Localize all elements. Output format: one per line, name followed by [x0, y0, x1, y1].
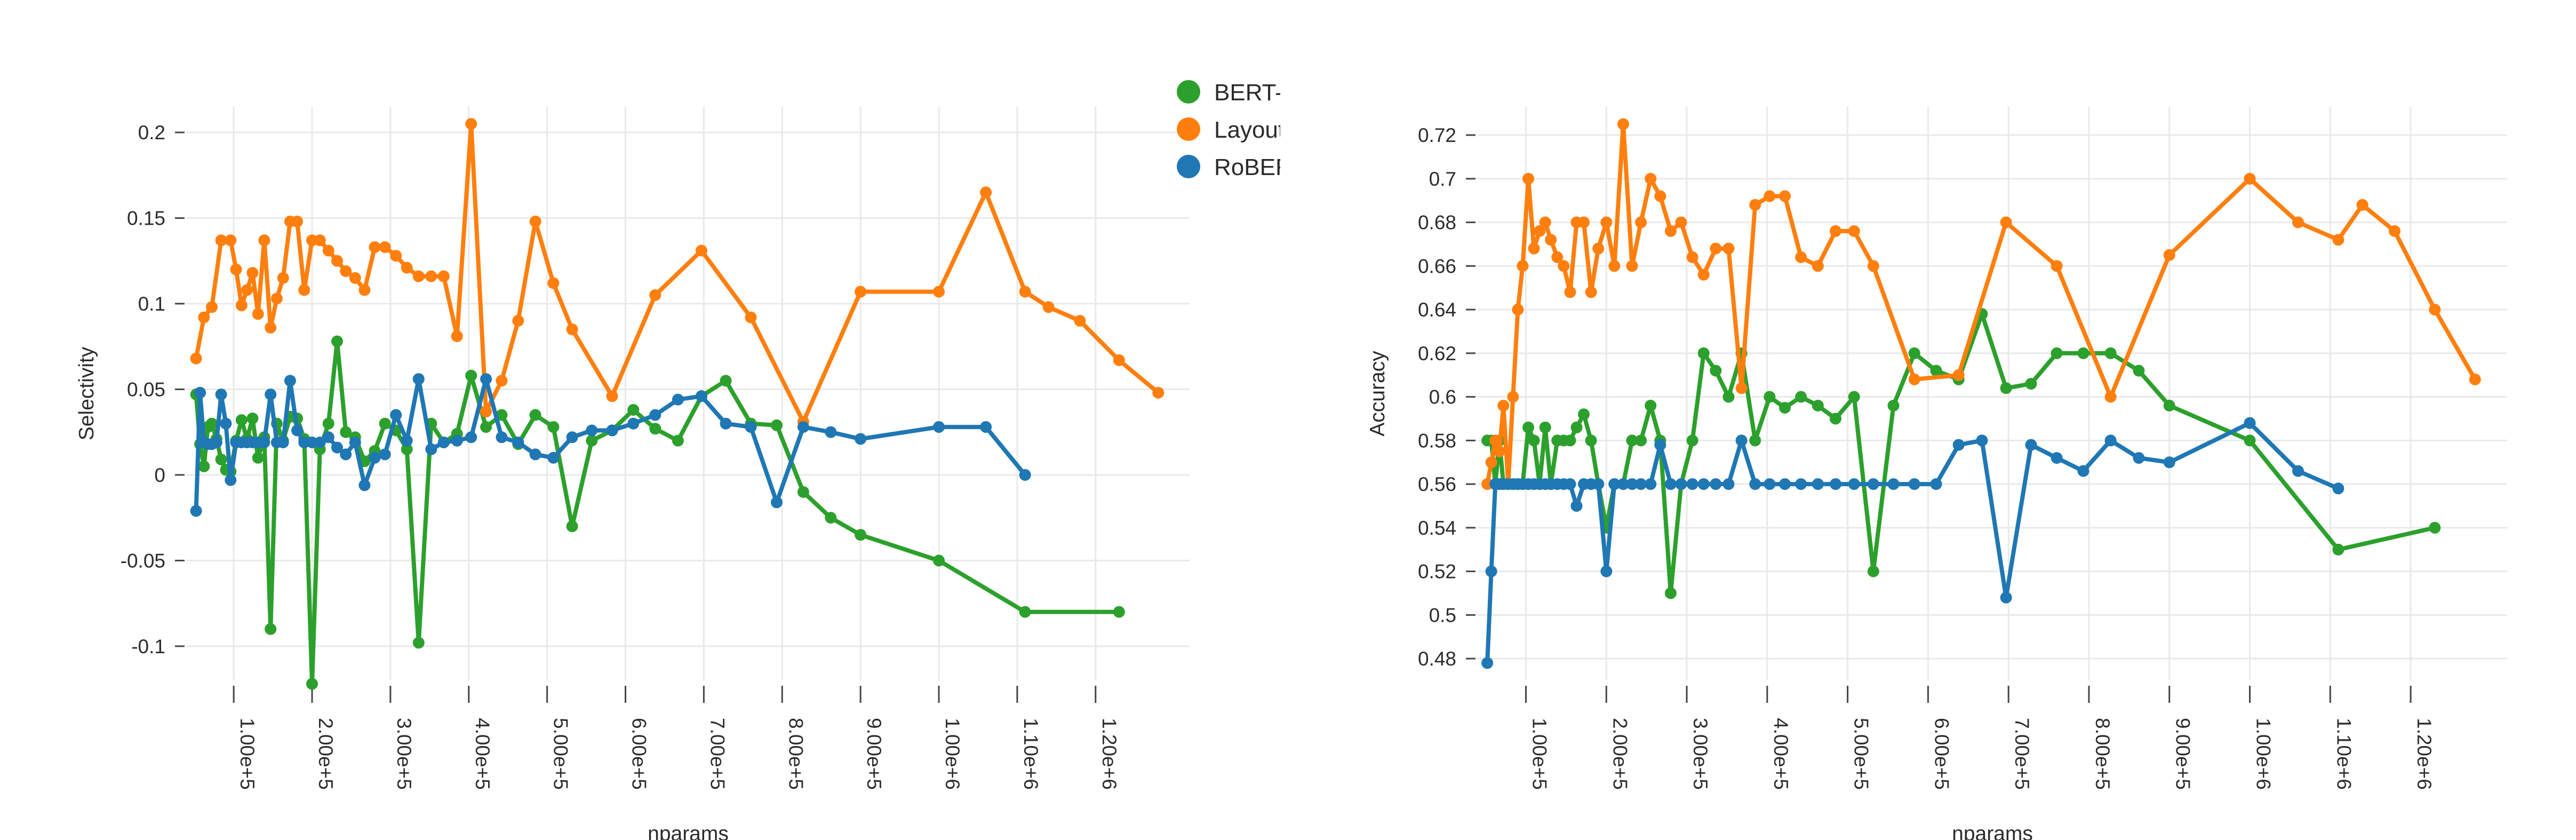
data-point-marker[interactable] — [696, 245, 707, 257]
data-point-marker[interactable] — [246, 413, 258, 424]
data-point-marker[interactable] — [649, 289, 661, 301]
data-point-marker[interactable] — [696, 390, 707, 402]
data-point-marker[interactable] — [933, 286, 945, 298]
data-point-marker[interactable] — [379, 241, 391, 253]
y-tick-label: 0.52 — [1418, 561, 1456, 583]
data-point-marker[interactable] — [465, 431, 477, 443]
data-point-marker[interactable] — [2332, 544, 2344, 556]
data-point-marker[interactable] — [1113, 606, 1125, 618]
data-point-marker[interactable] — [547, 278, 559, 289]
data-point-marker[interactable] — [1698, 347, 1710, 359]
y-tick-label: -0.1 — [131, 636, 165, 657]
y-tick-label: 0.62 — [1418, 343, 1456, 364]
data-point-marker[interactable] — [1489, 434, 1501, 446]
data-point-marker[interactable] — [379, 448, 391, 460]
data-point-marker[interactable] — [1687, 251, 1698, 263]
data-point-marker[interactable] — [1722, 478, 1734, 490]
data-point-marker[interactable] — [2105, 391, 2117, 403]
y-axis-ticks-group: 0.480.50.520.540.560.580.60.620.640.660.… — [1418, 124, 1476, 670]
data-point-marker[interactable] — [1749, 478, 1761, 490]
data-point-marker[interactable] — [252, 452, 264, 464]
accuracy-chart-svg[interactable]: 0.480.50.520.540.560.580.60.620.640.660.… — [1280, 0, 2576, 840]
data-point-marker[interactable] — [369, 452, 381, 464]
data-point-marker[interactable] — [1710, 365, 1721, 377]
data-point-marker[interactable] — [252, 308, 264, 320]
data-point-marker[interactable] — [1764, 191, 1775, 202]
data-point-marker[interactable] — [855, 433, 866, 445]
y-tick-label: -0.05 — [121, 550, 165, 572]
data-point-marker[interactable] — [1665, 478, 1677, 490]
data-point-marker[interactable] — [1494, 446, 1505, 457]
series-roberta[interactable] — [1481, 417, 2344, 669]
data-point-marker[interactable] — [379, 418, 391, 430]
x-axis-ticks-group: 1.00e+52.00e+53.00e+54.00e+55.00e+56.00e… — [1526, 686, 2435, 790]
series-polyline — [1487, 423, 2338, 663]
data-point-marker[interactable] — [2164, 249, 2175, 261]
data-point-marker[interactable] — [933, 421, 945, 433]
data-point-marker[interactable] — [2429, 522, 2441, 534]
data-point-marker[interactable] — [586, 435, 597, 447]
data-point-marker[interactable] — [1722, 391, 1734, 403]
data-point-marker[interactable] — [1074, 315, 1086, 327]
data-point-marker[interactable] — [480, 373, 492, 385]
data-point-marker[interactable] — [1486, 456, 1497, 468]
data-point-marker[interactable] — [1795, 251, 1807, 263]
data-point-marker[interactable] — [284, 375, 296, 386]
data-point-marker[interactable] — [314, 234, 326, 246]
data-point-marker[interactable] — [530, 409, 541, 421]
x-axis-ticks-group: 1.00e+52.00e+53.00e+54.00e+55.00e+56.00e… — [234, 686, 1120, 790]
data-point-marker[interactable] — [1600, 566, 1612, 577]
data-point-marker[interactable] — [567, 520, 578, 532]
data-point-marker[interactable] — [1976, 434, 1988, 446]
data-point-marker[interactable] — [1578, 408, 1590, 420]
data-point-marker[interactable] — [271, 292, 283, 304]
y-tick-label: 0.2 — [138, 122, 165, 144]
y-axis-title: Accuracy — [1366, 351, 1389, 437]
data-point-marker[interactable] — [1507, 391, 1519, 403]
data-point-marker[interactable] — [1545, 234, 1557, 245]
data-point-marker[interactable] — [1645, 478, 1656, 490]
data-point-marker[interactable] — [265, 623, 276, 635]
data-point-marker[interactable] — [586, 425, 597, 437]
data-point-marker[interactable] — [340, 448, 352, 460]
data-point-marker[interactable] — [607, 425, 618, 437]
legend-entry-label[interactable]: RoBERTa — [1214, 154, 1280, 180]
data-point-marker[interactable] — [1687, 478, 1698, 490]
data-point-marker[interactable] — [1019, 606, 1031, 618]
y-tick-label: 0.1 — [138, 293, 165, 315]
x-tick-label: 1.00e+6 — [2253, 718, 2275, 790]
y-tick-label: 0.64 — [1418, 299, 1456, 321]
data-point-marker[interactable] — [1830, 478, 1841, 490]
data-point-marker[interactable] — [1687, 434, 1698, 446]
y-tick-label: 0.58 — [1418, 430, 1456, 451]
data-point-marker[interactable] — [413, 637, 425, 648]
data-point-marker[interactable] — [720, 375, 732, 386]
data-point-marker[interactable] — [1522, 422, 1534, 433]
data-point-marker[interactable] — [2077, 347, 2089, 359]
y-tick-label: 0.05 — [127, 378, 165, 400]
data-point-marker[interactable] — [306, 678, 318, 690]
data-point-marker[interactable] — [1812, 400, 1824, 411]
data-point-marker[interactable] — [236, 414, 248, 426]
x-tick-label: 5.00e+5 — [550, 718, 572, 790]
legend-dot-layoutlm[interactable] — [1177, 117, 1200, 141]
x-tick-label: 4.00e+5 — [472, 718, 493, 790]
data-point-marker[interactable] — [291, 425, 303, 437]
data-point-marker[interactable] — [451, 435, 463, 447]
data-point-marker[interactable] — [745, 421, 757, 433]
data-point-marker[interactable] — [1868, 260, 1879, 272]
data-point-marker[interactable] — [211, 437, 222, 448]
data-point-marker[interactable] — [1710, 478, 1721, 490]
data-point-marker[interactable] — [1749, 434, 1761, 446]
data-point-marker[interactable] — [258, 437, 270, 448]
data-point-marker[interactable] — [1654, 439, 1666, 451]
data-point-marker[interactable] — [1812, 260, 1824, 272]
data-point-marker[interactable] — [980, 186, 992, 198]
data-point-marker[interactable] — [241, 284, 253, 296]
data-point-marker[interactable] — [1868, 566, 1879, 577]
data-point-marker[interactable] — [438, 271, 450, 282]
data-point-marker[interactable] — [547, 421, 559, 433]
data-point-marker[interactable] — [216, 389, 227, 400]
data-point-marker[interactable] — [1676, 217, 1687, 228]
data-point-marker[interactable] — [1645, 173, 1656, 185]
x-tick-label: 1.20e+6 — [2413, 718, 2435, 790]
x-tick-label: 6.00e+5 — [628, 718, 650, 790]
data-point-marker[interactable] — [206, 301, 218, 313]
data-point-marker[interactable] — [1512, 304, 1524, 315]
data-point-marker[interactable] — [413, 271, 425, 282]
data-point-marker[interactable] — [1585, 434, 1597, 446]
data-point-marker[interactable] — [190, 353, 202, 364]
series-polyline — [1487, 314, 2435, 593]
data-point-marker[interactable] — [1540, 217, 1551, 228]
data-point-marker[interactable] — [512, 315, 524, 327]
series-layoutlm[interactable] — [190, 118, 1165, 427]
x-axis-title: nparams — [1952, 822, 2033, 840]
data-point-marker[interactable] — [349, 272, 361, 284]
x-tick-label: 1.10e+6 — [2333, 718, 2355, 790]
data-point-marker[interactable] — [1953, 439, 1965, 451]
data-point-marker[interactable] — [797, 421, 809, 433]
data-point-marker[interactable] — [480, 406, 492, 417]
data-point-marker[interactable] — [1848, 391, 1860, 403]
data-point-marker[interactable] — [496, 375, 507, 386]
data-point-marker[interactable] — [771, 496, 783, 508]
data-point-marker[interactable] — [1909, 374, 1920, 385]
gridlines-group — [187, 107, 1190, 680]
data-point-marker[interactable] — [1736, 382, 1748, 394]
x-tick-label: 9.00e+5 — [863, 718, 885, 790]
y-tick-label: 0.5 — [1429, 604, 1456, 626]
legend-entry-label[interactable]: BERT-base — [1214, 80, 1280, 106]
data-point-marker[interactable] — [1848, 478, 1860, 490]
data-point-marker[interactable] — [390, 250, 402, 261]
data-point-marker[interactable] — [2292, 217, 2304, 228]
data-point-marker[interactable] — [1571, 500, 1583, 512]
data-point-marker[interactable] — [1736, 434, 1748, 446]
data-point-marker[interactable] — [236, 299, 248, 311]
data-point-marker[interactable] — [401, 435, 413, 447]
data-point-marker[interactable] — [771, 419, 783, 431]
selectivity-chart-svg[interactable]: -0.1-0.0500.050.10.150.21.00e+52.00e+53.… — [0, 0, 1280, 840]
data-point-marker[interactable] — [1578, 217, 1590, 228]
data-point-marker[interactable] — [720, 418, 732, 430]
data-point-marker[interactable] — [277, 272, 289, 284]
y-tick-label: 0.15 — [127, 208, 165, 229]
data-point-marker[interactable] — [230, 264, 242, 275]
data-point-marker[interactable] — [2164, 400, 2175, 411]
data-point-marker[interactable] — [2332, 234, 2344, 245]
data-point-marker[interactable] — [567, 431, 578, 443]
data-point-marker[interactable] — [1645, 400, 1656, 411]
data-point-marker[interactable] — [1540, 422, 1551, 433]
data-point-marker[interactable] — [797, 486, 809, 498]
data-point-marker[interactable] — [1635, 217, 1647, 228]
data-point-marker[interactable] — [1698, 269, 1710, 281]
data-point-marker[interactable] — [465, 118, 477, 130]
data-point-marker[interactable] — [2133, 452, 2144, 464]
data-point-marker[interactable] — [2244, 173, 2256, 185]
data-point-marker[interactable] — [413, 373, 425, 385]
data-point-marker[interactable] — [1522, 173, 1534, 185]
y-tick-label: 0.6 — [1429, 386, 1456, 408]
data-point-marker[interactable] — [225, 234, 236, 246]
data-point-marker[interactable] — [438, 437, 450, 448]
y-tick-label: 0.7 — [1429, 168, 1456, 190]
y-tick-label: 0.72 — [1418, 124, 1456, 146]
data-point-marker[interactable] — [1617, 118, 1629, 130]
data-point-marker[interactable] — [1113, 354, 1125, 366]
data-point-marker[interactable] — [2244, 434, 2256, 446]
x-axis-title: nparams — [648, 822, 729, 840]
data-point-marker[interactable] — [2025, 378, 2037, 390]
data-point-marker[interactable] — [1909, 347, 1920, 359]
data-point-marker[interactable] — [1764, 391, 1775, 403]
data-point-marker[interactable] — [225, 474, 236, 486]
data-point-marker[interactable] — [265, 389, 276, 400]
data-point-marker[interactable] — [496, 431, 507, 443]
data-point-marker[interactable] — [2000, 382, 2012, 394]
data-point-marker[interactable] — [1868, 478, 1879, 490]
data-point-marker[interactable] — [265, 322, 276, 334]
data-point-marker[interactable] — [1888, 478, 1900, 490]
data-point-marker[interactable] — [2469, 374, 2481, 385]
x-tick-label: 5.00e+5 — [1851, 718, 1872, 790]
data-point-marker[interactable] — [1676, 478, 1687, 490]
y-axis-ticks-group: -0.1-0.0500.050.10.150.2 — [121, 122, 185, 657]
data-point-marker[interactable] — [1888, 400, 1900, 411]
data-point-marker[interactable] — [2105, 347, 2117, 359]
data-point-marker[interactable] — [340, 265, 352, 277]
data-point-marker[interactable] — [246, 267, 258, 279]
data-point-marker[interactable] — [390, 409, 402, 421]
x-tick-label: 4.00e+5 — [1770, 718, 1792, 790]
data-point-marker[interactable] — [451, 330, 463, 342]
data-point-marker[interactable] — [2077, 465, 2089, 477]
data-point-marker[interactable] — [291, 216, 303, 227]
legend-dot-bert-base[interactable] — [1177, 80, 1200, 104]
data-point-marker[interactable] — [190, 505, 202, 517]
data-point-marker[interactable] — [2357, 199, 2368, 211]
data-point-marker[interactable] — [401, 262, 413, 274]
data-point-marker[interactable] — [1517, 260, 1528, 272]
data-point-marker[interactable] — [358, 284, 370, 296]
data-point-marker[interactable] — [855, 529, 866, 541]
data-point-marker[interactable] — [2025, 439, 2037, 451]
data-point-marker[interactable] — [323, 431, 334, 443]
x-tick-label: 3.00e+5 — [1689, 718, 1711, 790]
data-point-marker[interactable] — [1779, 478, 1791, 490]
data-point-marker[interactable] — [349, 437, 361, 448]
data-point-marker[interactable] — [1497, 400, 1509, 411]
data-point-marker[interactable] — [1481, 657, 1493, 669]
data-point-marker[interactable] — [1848, 225, 1860, 237]
data-point-marker[interactable] — [220, 418, 232, 430]
x-tick-label: 2.00e+5 — [1609, 718, 1631, 790]
data-point-marker[interactable] — [2429, 304, 2441, 315]
data-point-marker[interactable] — [745, 312, 757, 323]
data-point-marker[interactable] — [933, 554, 945, 566]
data-point-marker[interactable] — [1931, 478, 1942, 490]
data-point-marker[interactable] — [1608, 260, 1620, 272]
data-point-marker[interactable] — [1795, 391, 1807, 403]
data-point-marker[interactable] — [825, 426, 836, 438]
gridlines-group — [1478, 107, 2507, 680]
data-point-marker[interactable] — [2051, 347, 2063, 359]
series-bert-base[interactable] — [1481, 308, 2441, 599]
data-point-marker[interactable] — [2292, 465, 2304, 477]
data-point-marker[interactable] — [298, 284, 310, 296]
data-point-marker[interactable] — [1749, 199, 1761, 211]
data-point-marker[interactable] — [1764, 478, 1775, 490]
data-point-marker[interactable] — [1571, 422, 1583, 433]
data-point-marker[interactable] — [1779, 402, 1791, 414]
data-point-marker[interactable] — [1779, 191, 1791, 202]
x-tick-label: 8.00e+5 — [785, 718, 807, 790]
data-point-marker[interactable] — [358, 479, 370, 491]
data-point-marker[interactable] — [258, 234, 270, 246]
data-point-marker[interactable] — [480, 421, 492, 433]
data-point-marker[interactable] — [672, 394, 684, 406]
data-point-marker[interactable] — [1722, 243, 1734, 255]
data-point-marker[interactable] — [825, 512, 836, 524]
data-point-marker[interactable] — [2000, 217, 2012, 228]
data-point-marker[interactable] — [1564, 434, 1576, 446]
data-point-marker[interactable] — [2133, 365, 2144, 377]
data-point-marker[interactable] — [1592, 243, 1604, 255]
data-point-marker[interactable] — [323, 418, 334, 430]
data-point-marker[interactable] — [194, 387, 206, 399]
data-point-marker[interactable] — [512, 437, 524, 448]
data-point-marker[interactable] — [1665, 588, 1677, 599]
x-tick-label: 2.00e+5 — [315, 718, 337, 790]
data-point-marker[interactable] — [530, 216, 541, 227]
data-point-marker[interactable] — [1564, 478, 1576, 490]
legend-dot-roberta[interactable] — [1177, 155, 1200, 178]
data-point-marker[interactable] — [2164, 456, 2175, 468]
series-polyline — [196, 342, 1119, 684]
data-point-marker[interactable] — [980, 421, 992, 433]
data-point-marker[interactable] — [2332, 482, 2344, 494]
data-point-marker[interactable] — [2000, 592, 2012, 604]
data-point-marker[interactable] — [331, 336, 343, 347]
data-point-marker[interactable] — [1585, 286, 1597, 298]
data-point-marker[interactable] — [425, 443, 437, 455]
data-point-marker[interactable] — [1019, 469, 1031, 481]
data-point-marker[interactable] — [567, 323, 578, 335]
data-point-marker[interactable] — [198, 312, 210, 323]
data-point-marker[interactable] — [1830, 225, 1841, 237]
data-point-marker[interactable] — [1830, 413, 1841, 425]
data-point-marker[interactable] — [2051, 260, 2063, 272]
data-point-marker[interactable] — [672, 435, 684, 447]
data-point-marker[interactable] — [1626, 260, 1638, 272]
data-point-marker[interactable] — [649, 423, 661, 434]
data-point-marker[interactable] — [1564, 286, 1576, 298]
data-point-marker[interactable] — [1019, 286, 1031, 298]
data-point-marker[interactable] — [1795, 478, 1807, 490]
data-point-marker[interactable] — [1592, 478, 1604, 490]
y-tick-label: 0 — [154, 464, 165, 486]
data-point-marker[interactable] — [1486, 566, 1497, 577]
data-point-marker[interactable] — [1665, 225, 1677, 237]
x-tick-label: 1.20e+6 — [1098, 718, 1120, 790]
dual-line-chart-figure: -0.1-0.0500.050.10.150.21.00e+52.00e+53.… — [0, 0, 2576, 840]
data-point-marker[interactable] — [1600, 217, 1612, 228]
data-point-marker[interactable] — [1812, 478, 1824, 490]
data-point-marker[interactable] — [627, 418, 639, 430]
data-point-marker[interactable] — [1152, 387, 1164, 399]
legend-entry-label[interactable]: LayoutLM — [1214, 117, 1280, 143]
data-point-marker[interactable] — [425, 271, 437, 282]
data-point-marker[interactable] — [649, 409, 661, 421]
data-point-marker[interactable] — [547, 452, 559, 464]
data-point-marker[interactable] — [1953, 369, 1965, 381]
data-point-marker[interactable] — [607, 390, 618, 402]
data-point-marker[interactable] — [1528, 243, 1540, 255]
data-point-marker[interactable] — [1635, 434, 1647, 446]
data-point-marker[interactable] — [1909, 478, 1920, 490]
data-point-marker[interactable] — [277, 437, 289, 448]
x-tick-label: 3.00e+5 — [393, 718, 415, 790]
data-point-marker[interactable] — [1043, 301, 1055, 313]
data-point-marker[interactable] — [1558, 260, 1569, 272]
y-tick-label: 0.54 — [1418, 517, 1456, 539]
data-point-marker[interactable] — [1654, 191, 1666, 202]
data-point-marker[interactable] — [216, 454, 227, 465]
data-point-marker[interactable] — [1710, 243, 1721, 255]
data-point-marker[interactable] — [2244, 417, 2256, 429]
data-point-marker[interactable] — [369, 241, 381, 253]
data-point-marker[interactable] — [2389, 225, 2400, 237]
data-point-marker[interactable] — [2051, 452, 2063, 464]
x-tick-label: 1.00e+6 — [942, 718, 963, 790]
data-point-marker[interactable] — [530, 448, 541, 460]
data-point-marker[interactable] — [1528, 434, 1540, 446]
data-point-marker[interactable] — [323, 245, 334, 257]
data-point-marker[interactable] — [2105, 434, 2117, 446]
x-tick-label: 7.00e+5 — [706, 718, 728, 790]
data-point-marker[interactable] — [331, 255, 343, 267]
data-point-marker[interactable] — [855, 286, 866, 298]
data-point-marker[interactable] — [1698, 478, 1710, 490]
data-point-marker[interactable] — [627, 404, 639, 416]
data-point-marker[interactable] — [465, 370, 477, 382]
